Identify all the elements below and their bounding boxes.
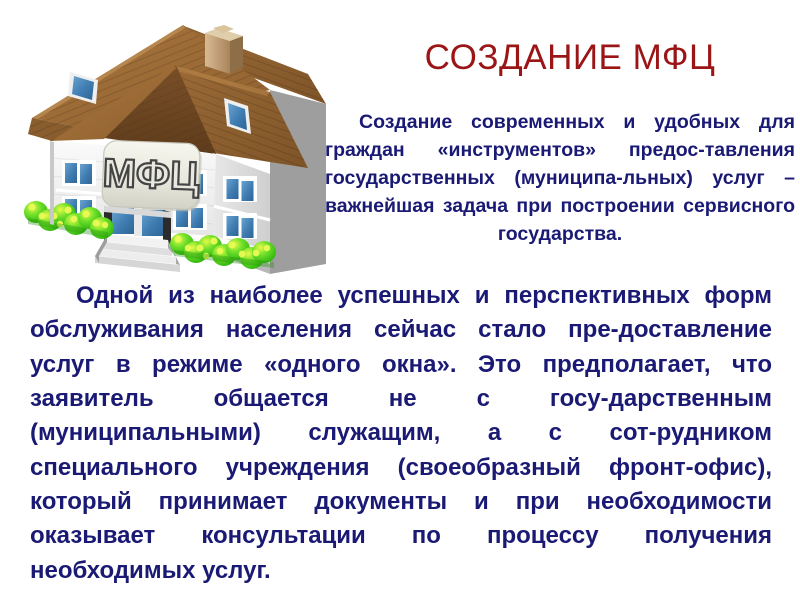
- mfc-building-illustration: МФЦ: [8, 8, 338, 274]
- wall-left-edge: [50, 141, 54, 225]
- body-paragraph: Одной из наиболее успешных и перспективн…: [30, 279, 772, 588]
- slide-canvas: МФЦ: [0, 0, 800, 600]
- mfc-sign-text: МФЦ: [102, 151, 200, 199]
- wall-right: [213, 153, 270, 250]
- mfc-sign: МФЦ: [102, 140, 202, 212]
- intro-paragraph: Создание современных и удобных для гражд…: [325, 108, 795, 248]
- page-title: СОЗДАНИЕ МФЦ: [340, 40, 800, 77]
